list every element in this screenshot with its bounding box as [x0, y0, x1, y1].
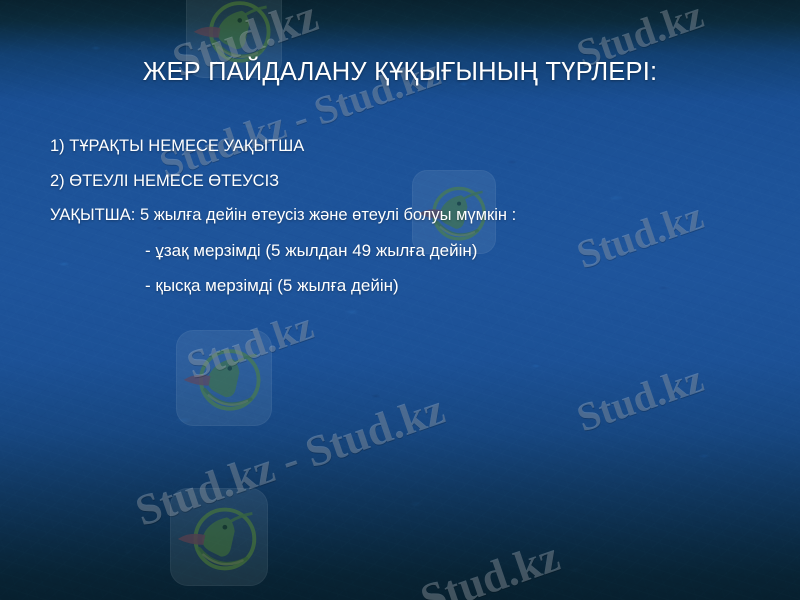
slide-body-line: - қысқа мерзімді (5 жылға дейін)	[50, 277, 770, 294]
slide-body-line: 2) ӨТЕУЛІ НЕМЕСЕ ӨТЕУСІЗ	[50, 173, 770, 190]
slide-title: ЖЕР ПАЙДАЛАНУ ҚҰҚЫҒЫНЫҢ ТҮРЛЕРІ:	[0, 58, 800, 87]
slide-body-line: 1) ТҰРАҚТЫ НЕМЕСЕ УАҚЫТША	[50, 138, 770, 155]
slide-body-text: 1) ТҰРАҚТЫ НЕМЕСЕ УАҚЫТША2) ӨТЕУЛІ НЕМЕС…	[50, 138, 770, 294]
slide-body-line: - ұзақ мерзімді (5 жылдан 49 жылға дейін…	[50, 242, 770, 259]
presentation-slide: Stud.kzStud.kz - Stud.kzStud.kzStud.kzSt…	[0, 0, 800, 600]
slide-body-line: УАҚЫТША: 5 жылға дейін өтеусіз және өтеу…	[50, 207, 770, 224]
slide-content: ЖЕР ПАЙДАЛАНУ ҚҰҚЫҒЫНЫҢ ТҮРЛЕРІ: 1) ТҰРА…	[0, 0, 800, 600]
